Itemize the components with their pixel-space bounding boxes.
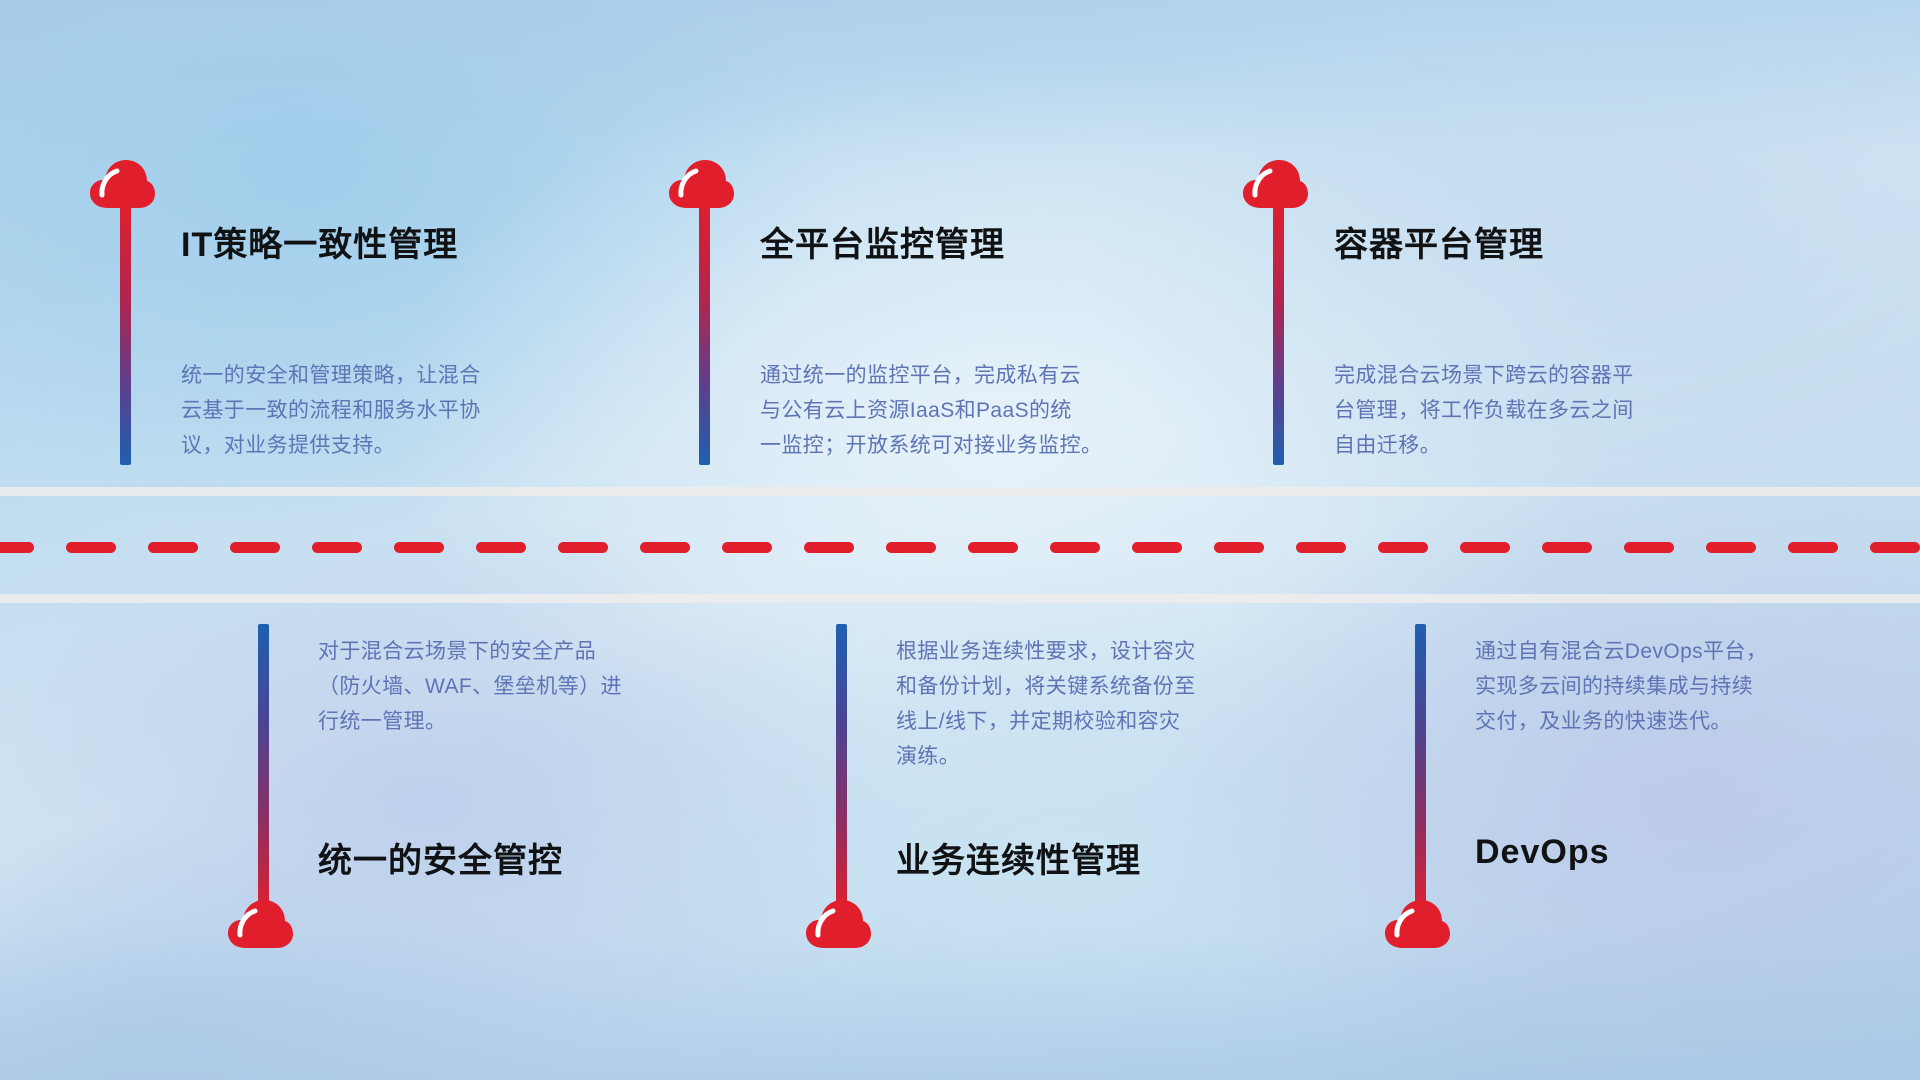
pin-bar [258, 624, 269, 914]
infographic-stage: IT策略一致性管理 统一的安全和管理策略，让混合 云基于一致的流程和服务水平协 … [0, 0, 1920, 1080]
section-heading: 业务连续性管理 [896, 833, 1141, 882]
section-heading: 统一的安全管控 [318, 833, 563, 882]
section-heading: IT策略一致性管理 [181, 217, 458, 266]
desc-line: 台管理，将工作负载在多云之间 [1334, 393, 1634, 428]
divider-dash [1050, 542, 1100, 553]
desc-line: 云基于一致的流程和服务水平协 [181, 393, 481, 428]
desc-line: 根据业务连续性要求，设计容灾 [896, 634, 1196, 669]
desc-line: 行统一管理。 [318, 704, 622, 739]
section-heading: 全平台监控管理 [760, 217, 1005, 266]
divider-dash [1542, 542, 1592, 553]
section-heading: 容器平台管理 [1334, 217, 1544, 266]
divider-dash [640, 542, 690, 553]
desc-line: （防火墙、WAF、堡垒机等）进 [318, 669, 622, 704]
divider-dash [394, 542, 444, 553]
divider-dash [1706, 542, 1756, 553]
cloud-icon [226, 898, 294, 955]
desc-line: 通过自有混合云DevOps平台， [1475, 634, 1767, 669]
desc-line: 演练。 [896, 739, 1196, 774]
divider-dash [968, 542, 1018, 553]
desc-line: 统一的安全和管理策略，让混合 [181, 358, 481, 393]
section-heading: DevOps [1475, 833, 1610, 872]
desc-line: 线上/线下，并定期校验和容灾 [896, 704, 1196, 739]
divider-dash [1870, 542, 1920, 553]
desc-line: 和备份计划，将关键系统备份至 [896, 669, 1196, 704]
divider-bar-upper [0, 487, 1920, 496]
section-description: 完成混合云场景下跨云的容器平 台管理，将工作负载在多云之间 自由迁移。 [1334, 358, 1634, 463]
divider-dash [1624, 542, 1674, 553]
divider-dash [0, 542, 34, 553]
divider-dash [722, 542, 772, 553]
desc-line: 完成混合云场景下跨云的容器平 [1334, 358, 1634, 393]
pin-bar [1273, 200, 1284, 465]
section-description: 通过自有混合云DevOps平台， 实现多云间的持续集成与持续 交付，及业务的快速… [1475, 634, 1767, 739]
desc-line: 交付，及业务的快速迭代。 [1475, 704, 1767, 739]
desc-line: 议，对业务提供支持。 [181, 428, 481, 463]
desc-line: 实现多云间的持续集成与持续 [1475, 669, 1767, 704]
pin-bar [120, 200, 131, 465]
divider-dash [230, 542, 280, 553]
divider-dashed-line [0, 542, 1920, 553]
divider-dash [1132, 542, 1182, 553]
divider-dash [1788, 542, 1838, 553]
divider-bar-lower [0, 594, 1920, 603]
divider-dash [558, 542, 608, 553]
pin-bar [836, 624, 847, 914]
section-description: 统一的安全和管理策略，让混合 云基于一致的流程和服务水平协 议，对业务提供支持。 [181, 358, 481, 463]
desc-line: 与公有云上资源IaaS和PaaS的统 [760, 393, 1102, 428]
divider-dash [148, 542, 198, 553]
desc-line: 一监控；开放系统可对接业务监控。 [760, 428, 1102, 463]
section-description: 通过统一的监控平台，完成私有云 与公有云上资源IaaS和PaaS的统 一监控；开… [760, 358, 1102, 463]
section-description: 根据业务连续性要求，设计容灾 和备份计划，将关键系统备份至 线上/线下，并定期校… [896, 634, 1196, 774]
divider-dash [804, 542, 854, 553]
divider-dash [476, 542, 526, 553]
divider-dash [312, 542, 362, 553]
divider-dash [66, 542, 116, 553]
divider-dash [1460, 542, 1510, 553]
divider-dash [1296, 542, 1346, 553]
divider-dash [1214, 542, 1264, 553]
cloud-icon [804, 898, 872, 955]
pin-bar [699, 200, 710, 465]
divider-dash [886, 542, 936, 553]
pin-bar [1415, 624, 1426, 914]
desc-line: 自由迁移。 [1334, 428, 1634, 463]
divider-dash [1378, 542, 1428, 553]
cloud-icon [1383, 898, 1451, 955]
desc-line: 通过统一的监控平台，完成私有云 [760, 358, 1102, 393]
section-description: 对于混合云场景下的安全产品 （防火墙、WAF、堡垒机等）进 行统一管理。 [318, 634, 622, 739]
desc-line: 对于混合云场景下的安全产品 [318, 634, 622, 669]
